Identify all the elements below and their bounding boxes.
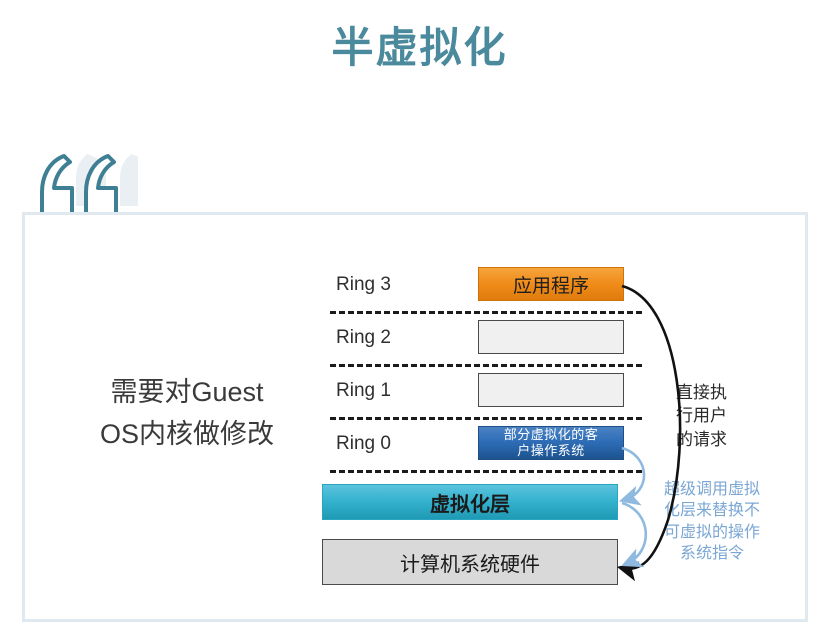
annotation-direct-execution: 直接执 行用户 的请求 bbox=[676, 381, 742, 451]
annotation-direct-line-3: 的请求 bbox=[676, 428, 742, 451]
ring-label-1: Ring 1 bbox=[336, 380, 391, 402]
guest-os-box-label: 部分虚拟化的客 户操作系统 bbox=[504, 427, 599, 460]
annotation-hypercall-line-4: 系统指令 bbox=[660, 543, 764, 564]
ring-1-box[interactable] bbox=[478, 373, 624, 407]
guest-os-line-2: 户操作系统 bbox=[504, 443, 599, 459]
guest-os-line-1: 部分虚拟化的客 bbox=[504, 427, 599, 443]
virtualization-layer-label: 虚拟化层 bbox=[430, 488, 510, 517]
application-box[interactable]: 应用程序 bbox=[478, 267, 624, 301]
ring-separator-2-1 bbox=[330, 364, 642, 367]
ring-separator-0-vmm bbox=[330, 470, 642, 473]
ring-row-2: Ring 2 bbox=[330, 315, 642, 367]
ring-label-0: Ring 0 bbox=[336, 433, 391, 455]
annotation-hypercall-line-1: 超级调用虚拟 bbox=[660, 479, 764, 500]
guest-os-box[interactable]: 部分虚拟化的客 户操作系统 bbox=[478, 426, 624, 460]
ring-row-3: Ring 3 应用程序 bbox=[330, 262, 642, 314]
annotation-direct-line-2: 行用户 bbox=[676, 404, 742, 427]
application-box-label: 应用程序 bbox=[513, 271, 589, 298]
annotation-direct-line-1: 直接执 bbox=[676, 381, 742, 404]
virtualization-layer-box[interactable]: 虚拟化层 bbox=[322, 484, 618, 520]
left-caption: 需要对Guest OS内核做修改 bbox=[72, 372, 302, 456]
annotation-hypercall-line-3: 可虚拟的操作 bbox=[660, 522, 764, 543]
hardware-label: 计算机系统硬件 bbox=[400, 548, 540, 577]
ring-separator-1-0 bbox=[330, 417, 642, 420]
ring-row-0: Ring 0 部分虚拟化的客 户操作系统 bbox=[330, 421, 642, 473]
page-title: 半虚拟化 bbox=[0, 24, 839, 72]
hardware-box[interactable]: 计算机系统硬件 bbox=[322, 539, 618, 585]
left-caption-line-2: OS内核做修改 bbox=[72, 414, 302, 456]
ring-diagram: Ring 3 应用程序 Ring 2 Ring 1 Ring 0 部分虚拟化的客… bbox=[330, 262, 642, 510]
annotation-hypercall-line-2: 化层来替换不 bbox=[660, 500, 764, 521]
left-caption-line-1: 需要对Guest bbox=[72, 372, 302, 414]
ring-row-1: Ring 1 bbox=[330, 368, 642, 420]
quote-open-icon bbox=[38, 148, 138, 220]
ring-label-3: Ring 3 bbox=[336, 274, 391, 296]
ring-label-2: Ring 2 bbox=[336, 327, 391, 349]
annotation-hypercall: 超级调用虚拟 化层来替换不 可虚拟的操作 系统指令 bbox=[660, 479, 764, 565]
ring-separator-3-2 bbox=[330, 311, 642, 314]
ring-2-box[interactable] bbox=[478, 320, 624, 354]
